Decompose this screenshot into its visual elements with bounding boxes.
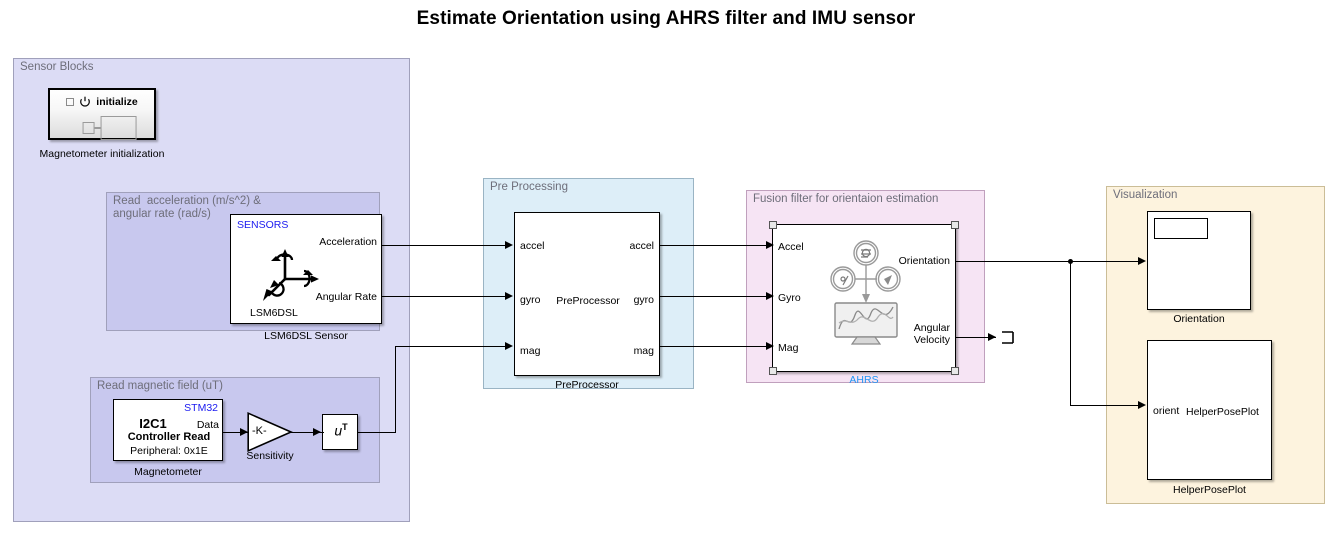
signal-pre-gyro-to-ahrs: [660, 296, 770, 297]
stm32-header-label: STM32: [184, 402, 218, 414]
signal-mag-transpose-out: [358, 432, 396, 433]
ahrs-in-accel: Accel: [778, 242, 804, 253]
resize-handle-tl[interactable]: [769, 221, 777, 229]
ahrs-out-angvel-line2: Velocity: [914, 334, 950, 346]
gain-value-label: -K-: [252, 425, 267, 437]
arrow-orientation-display-in: [1138, 257, 1146, 265]
ahrs-out-angvel-line1: Angular: [914, 322, 950, 334]
sensors-header-label: SENSORS: [237, 219, 288, 231]
arrow-pre-gyro-in: [505, 292, 513, 300]
i2c-controller-read-block[interactable]: STM32 I2C1 Controller Read Peripheral: 0…: [113, 399, 223, 461]
ahrs-block[interactable]: Accel Gyro Mag Orientation Angular Veloc…: [772, 224, 956, 372]
magnetometer-initialize-block[interactable]: initialize: [48, 88, 156, 140]
arrow-ahrs-gyro-in: [766, 292, 774, 300]
arrow-pre-accel-in: [505, 241, 513, 249]
lsm6dsl-sensor-block[interactable]: SENSORS Acceleration Angular Rate LSM6DS…: [230, 214, 382, 324]
lsm6dsl-caption: LSM6DSL Sensor: [230, 330, 382, 342]
area-sensor-blocks-label: Sensor Blocks: [20, 61, 94, 74]
helper-pose-plot-caption: HelperPosePlot: [1147, 484, 1272, 496]
ahrs-in-gyro: Gyro: [778, 293, 801, 304]
arrow-ahrs-mag-in: [766, 342, 774, 350]
signal-orientation-branch-down: [1070, 261, 1071, 406]
i2c-mode-label: Controller Read: [114, 431, 224, 443]
signal-mag-to-pre: [395, 346, 506, 347]
signal-orientation-to-poseplot: [1070, 405, 1144, 406]
helper-pose-plot-name-label: HelperPosePlot: [1186, 406, 1259, 418]
transpose-symbol: u: [334, 423, 342, 439]
arrow-gain-in: [240, 428, 248, 436]
power-icon: [79, 96, 91, 108]
signal-pre-mag-to-ahrs: [660, 346, 770, 347]
page-title: Estimate Orientation using AHRS filter a…: [0, 8, 1332, 30]
preprocessor-name-label: PreProcessor: [515, 295, 661, 307]
helper-pose-plot-input-label: orient: [1153, 406, 1179, 417]
orientation-display-block[interactable]: [1147, 211, 1251, 310]
sensor-fusion-icon: [825, 237, 907, 352]
preproc-in-accel: accel: [520, 241, 545, 252]
ahrs-in-mag: Mag: [778, 343, 798, 354]
area-read-magnetic-field-label: Read magnetic field (uT): [97, 380, 223, 393]
signal-gyro-lsm-to-pre: [382, 296, 506, 297]
signal-accel-lsm-to-pre: [382, 245, 506, 246]
initialize-label: initialize: [96, 96, 137, 108]
preproc-in-mag: mag: [520, 346, 540, 357]
arrow-terminator-in: [988, 333, 996, 341]
signal-mag-riser: [395, 346, 396, 433]
orientation-display-caption: Orientation: [1147, 313, 1251, 325]
preprocessor-block[interactable]: accel gyro mag accel gyro mag PreProcess…: [514, 212, 660, 376]
checkbox-icon: [66, 98, 74, 106]
preprocessor-caption: PreProcessor: [514, 379, 660, 391]
arrow-pre-mag-in: [505, 342, 513, 350]
magnetometer-initialize-caption: Magnetometer initialization: [28, 148, 176, 160]
area-visualization-label: Visualization: [1113, 189, 1177, 202]
display-value-rect: [1154, 218, 1208, 239]
signal-pre-accel-to-ahrs: [660, 245, 770, 246]
resize-handle-tr[interactable]: [951, 221, 959, 229]
gain-sensitivity-block[interactable]: -K-: [247, 412, 293, 452]
signal-orientation-main: [956, 261, 1144, 262]
terminator-block[interactable]: [1000, 330, 1016, 351]
arrow-ahrs-accel-in: [766, 241, 774, 249]
area-pre-processing-label: Pre Processing: [490, 181, 568, 194]
port-data-label: Data: [197, 420, 219, 431]
ahrs-caption: AHRS: [772, 374, 956, 386]
i2c-name-label: I2C1: [114, 416, 192, 431]
initialize-diagram-icon: [83, 116, 137, 140]
simulink-canvas: Estimate Orientation using AHRS filter a…: [0, 0, 1332, 537]
preproc-out-mag: mag: [634, 346, 654, 357]
i2c-caption: Magnetometer: [113, 466, 223, 478]
arrow-poseplot-in: [1138, 401, 1146, 409]
transpose-superscript: T: [342, 422, 348, 432]
initialize-row: initialize: [50, 96, 154, 108]
gain-caption: Sensitivity: [232, 450, 308, 462]
helper-pose-plot-block[interactable]: orient HelperPosePlot: [1147, 340, 1272, 480]
i2c-peripheral-label: Peripheral: 0x1E: [114, 445, 224, 457]
preproc-out-accel: accel: [629, 241, 654, 252]
three-axis-gyro-icon: [257, 243, 331, 310]
transpose-block[interactable]: uT: [322, 414, 358, 450]
arrow-transpose-in: [313, 428, 321, 436]
ahrs-out-angular-velocity: Angular Velocity: [914, 322, 950, 346]
area-fusion-filter-label: Fusion filter for orientaion estimation: [753, 193, 938, 206]
